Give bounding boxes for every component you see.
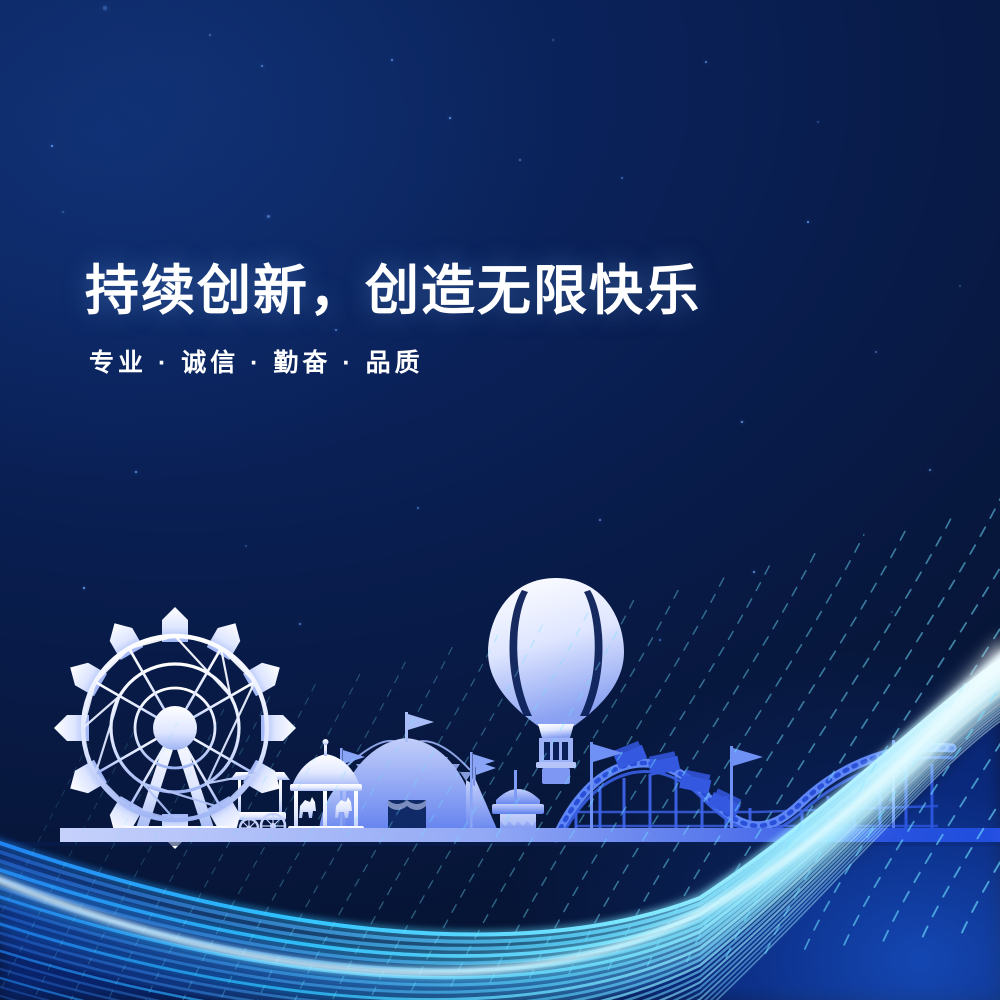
poster-canvas: 持续创新，创造无限快乐 专业 · 诚信 · 勤奋 · 品质 <box>0 0 1000 1000</box>
glowing-mesh-wave <box>0 0 1000 1000</box>
